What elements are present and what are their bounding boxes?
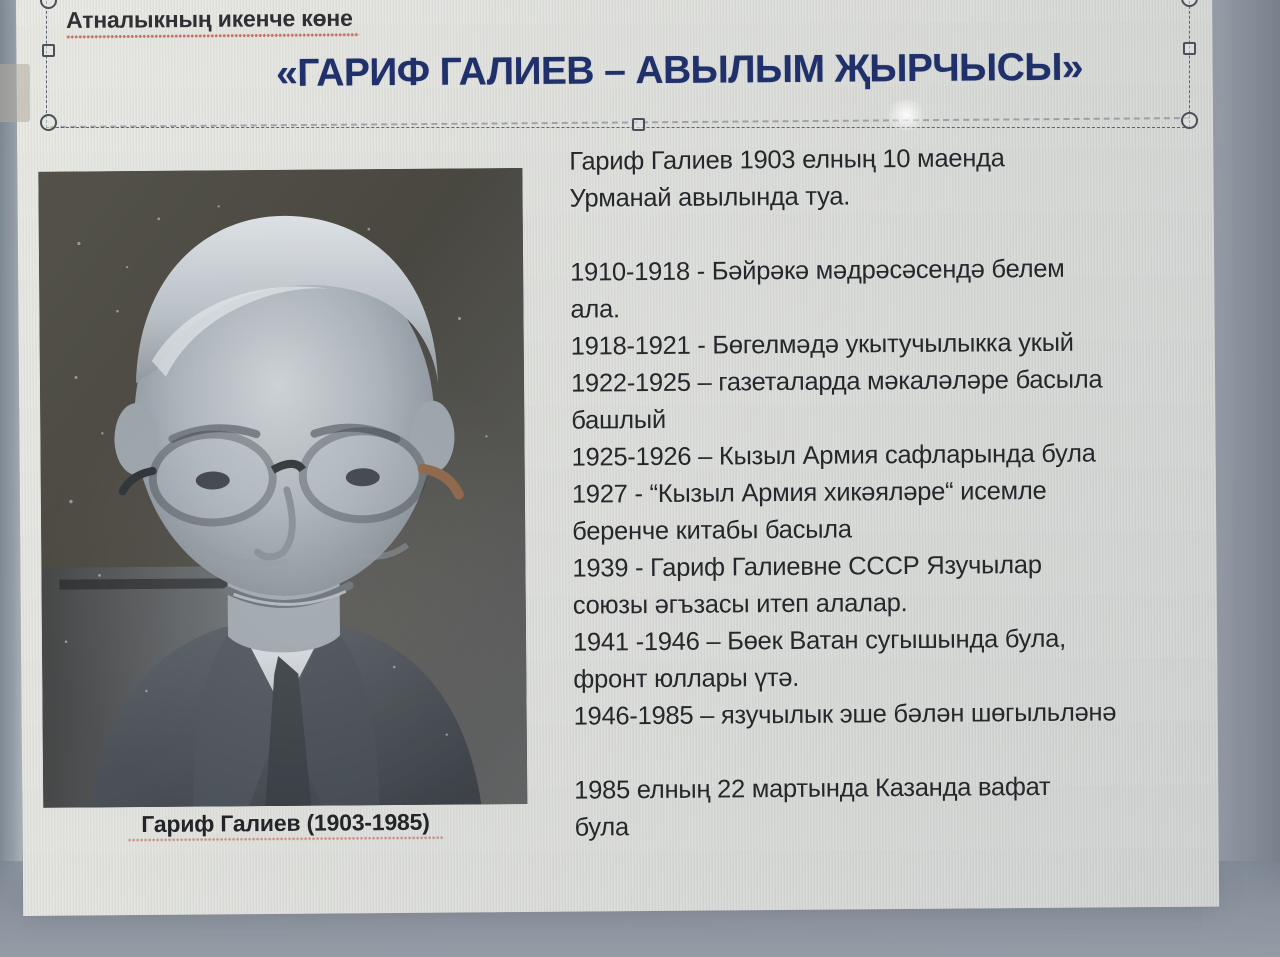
text-line: 1939 - Гариф Галиевне СССР Язучылар: [572, 546, 1212, 588]
biography-text-column: Гариф Галиев 1903 елның 10 маенда Урмана…: [569, 139, 1215, 847]
timeline-paragraph: 1910-1918 - Бәйрәкә мәдрәсәсендә белем а…: [570, 250, 1214, 736]
edge-toolbar-icon[interactable]: [0, 64, 30, 122]
text-line: 1941 -1946 – Бөек Ватан сугышында була,: [573, 620, 1213, 662]
portrait-photo-caption: Гариф Галиев (1903-1985): [43, 808, 527, 839]
text-line: Урманай авылында туа.: [569, 176, 1209, 218]
closing-paragraph: 1985 елның 22 мартында Казанда вафат бул…: [574, 768, 1215, 847]
intro-paragraph: Гариф Галиев 1903 елның 10 маенда Урмана…: [569, 139, 1210, 218]
portrait-photo: [38, 168, 527, 808]
text-line: беренче китабы басыла: [572, 509, 1212, 551]
paragraph-gap: [570, 213, 1210, 255]
text-line: 1985 елның 22 мартында Казанда вафат: [574, 768, 1214, 810]
paragraph-gap: [574, 731, 1214, 773]
text-line: 1925-1926 – Кызыл Армия сафларында була: [571, 435, 1211, 477]
text-line: ала.: [570, 287, 1210, 329]
text-line: 1910-1918 - Бәйрәкә мәдрәсәсендә белем: [570, 250, 1210, 292]
text-line: башлый: [571, 398, 1211, 440]
text-line: фронт юллары үтә.: [573, 657, 1213, 699]
text-line: 1946-1985 – язучылык эше бәлән шөгыльлән…: [574, 694, 1214, 736]
spellcheck-underline-caption-icon: [128, 835, 444, 842]
text-line: 1922-1925 – газеталарда мәкаләләре басыл…: [571, 361, 1211, 403]
text-line: була: [574, 805, 1214, 847]
text-line: союзы әгъзасы итеп алалар.: [573, 583, 1213, 625]
text-line: 1918-1921 - Бөгелмәдә укытучылыкка укый: [571, 324, 1211, 366]
portrait-caption-text: Гариф Галиев (1903-1985): [141, 809, 430, 837]
portrait-photo-image: [38, 168, 527, 808]
slide-content: Гариф Галиев (1903-1985) Гариф Галиев 19…: [16, 0, 1219, 922]
text-line: Гариф Галиев 1903 елның 10 маенда: [569, 139, 1209, 181]
projected-slide-screenshot: Атналыкның икенче көне «ГАРИФ ГАЛИЕВ – А…: [0, 0, 1280, 957]
text-line: 1927 - “Кызыл Армия хикәяләре“ исемле: [572, 472, 1212, 514]
